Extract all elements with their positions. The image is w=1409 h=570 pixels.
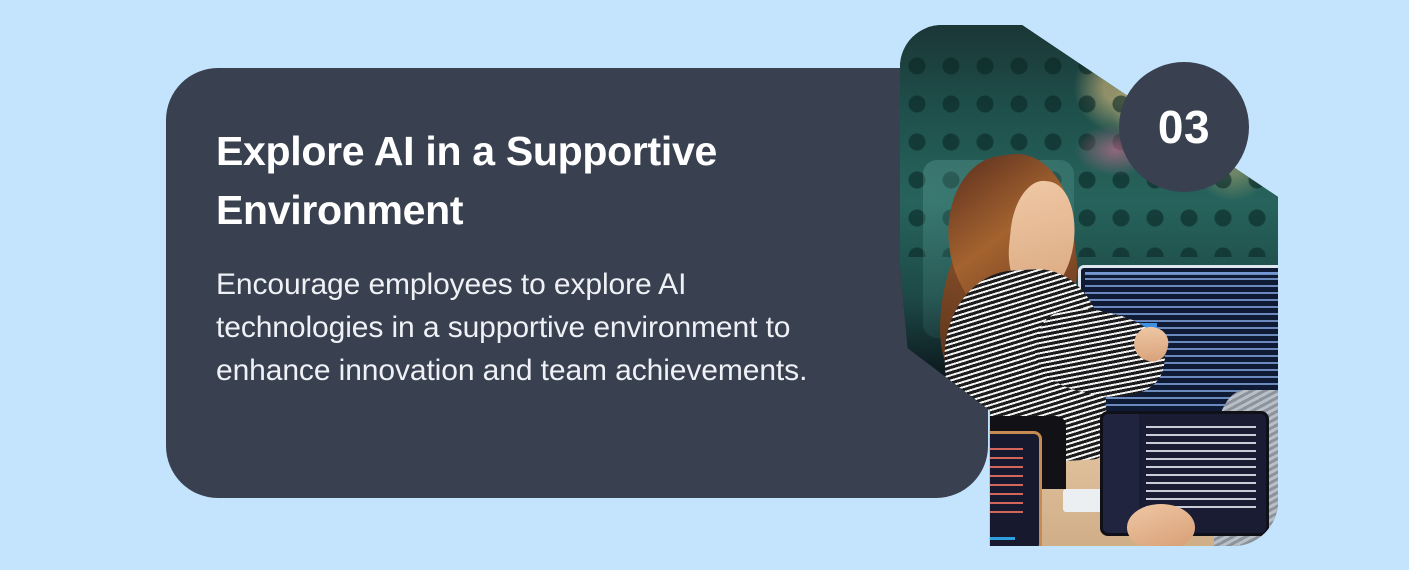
card-title: Explore AI in a Supportive Environment [216, 122, 856, 241]
card-body-text: Encourage employees to explore AI techno… [216, 263, 856, 393]
infographic-slide: Explore AI in a Supportive Environment E… [0, 0, 1409, 570]
step-number-label: 03 [1158, 100, 1210, 154]
card-text-block: Explore AI in a Supportive Environment E… [216, 122, 856, 392]
step-number-badge: 03 [1119, 62, 1249, 192]
